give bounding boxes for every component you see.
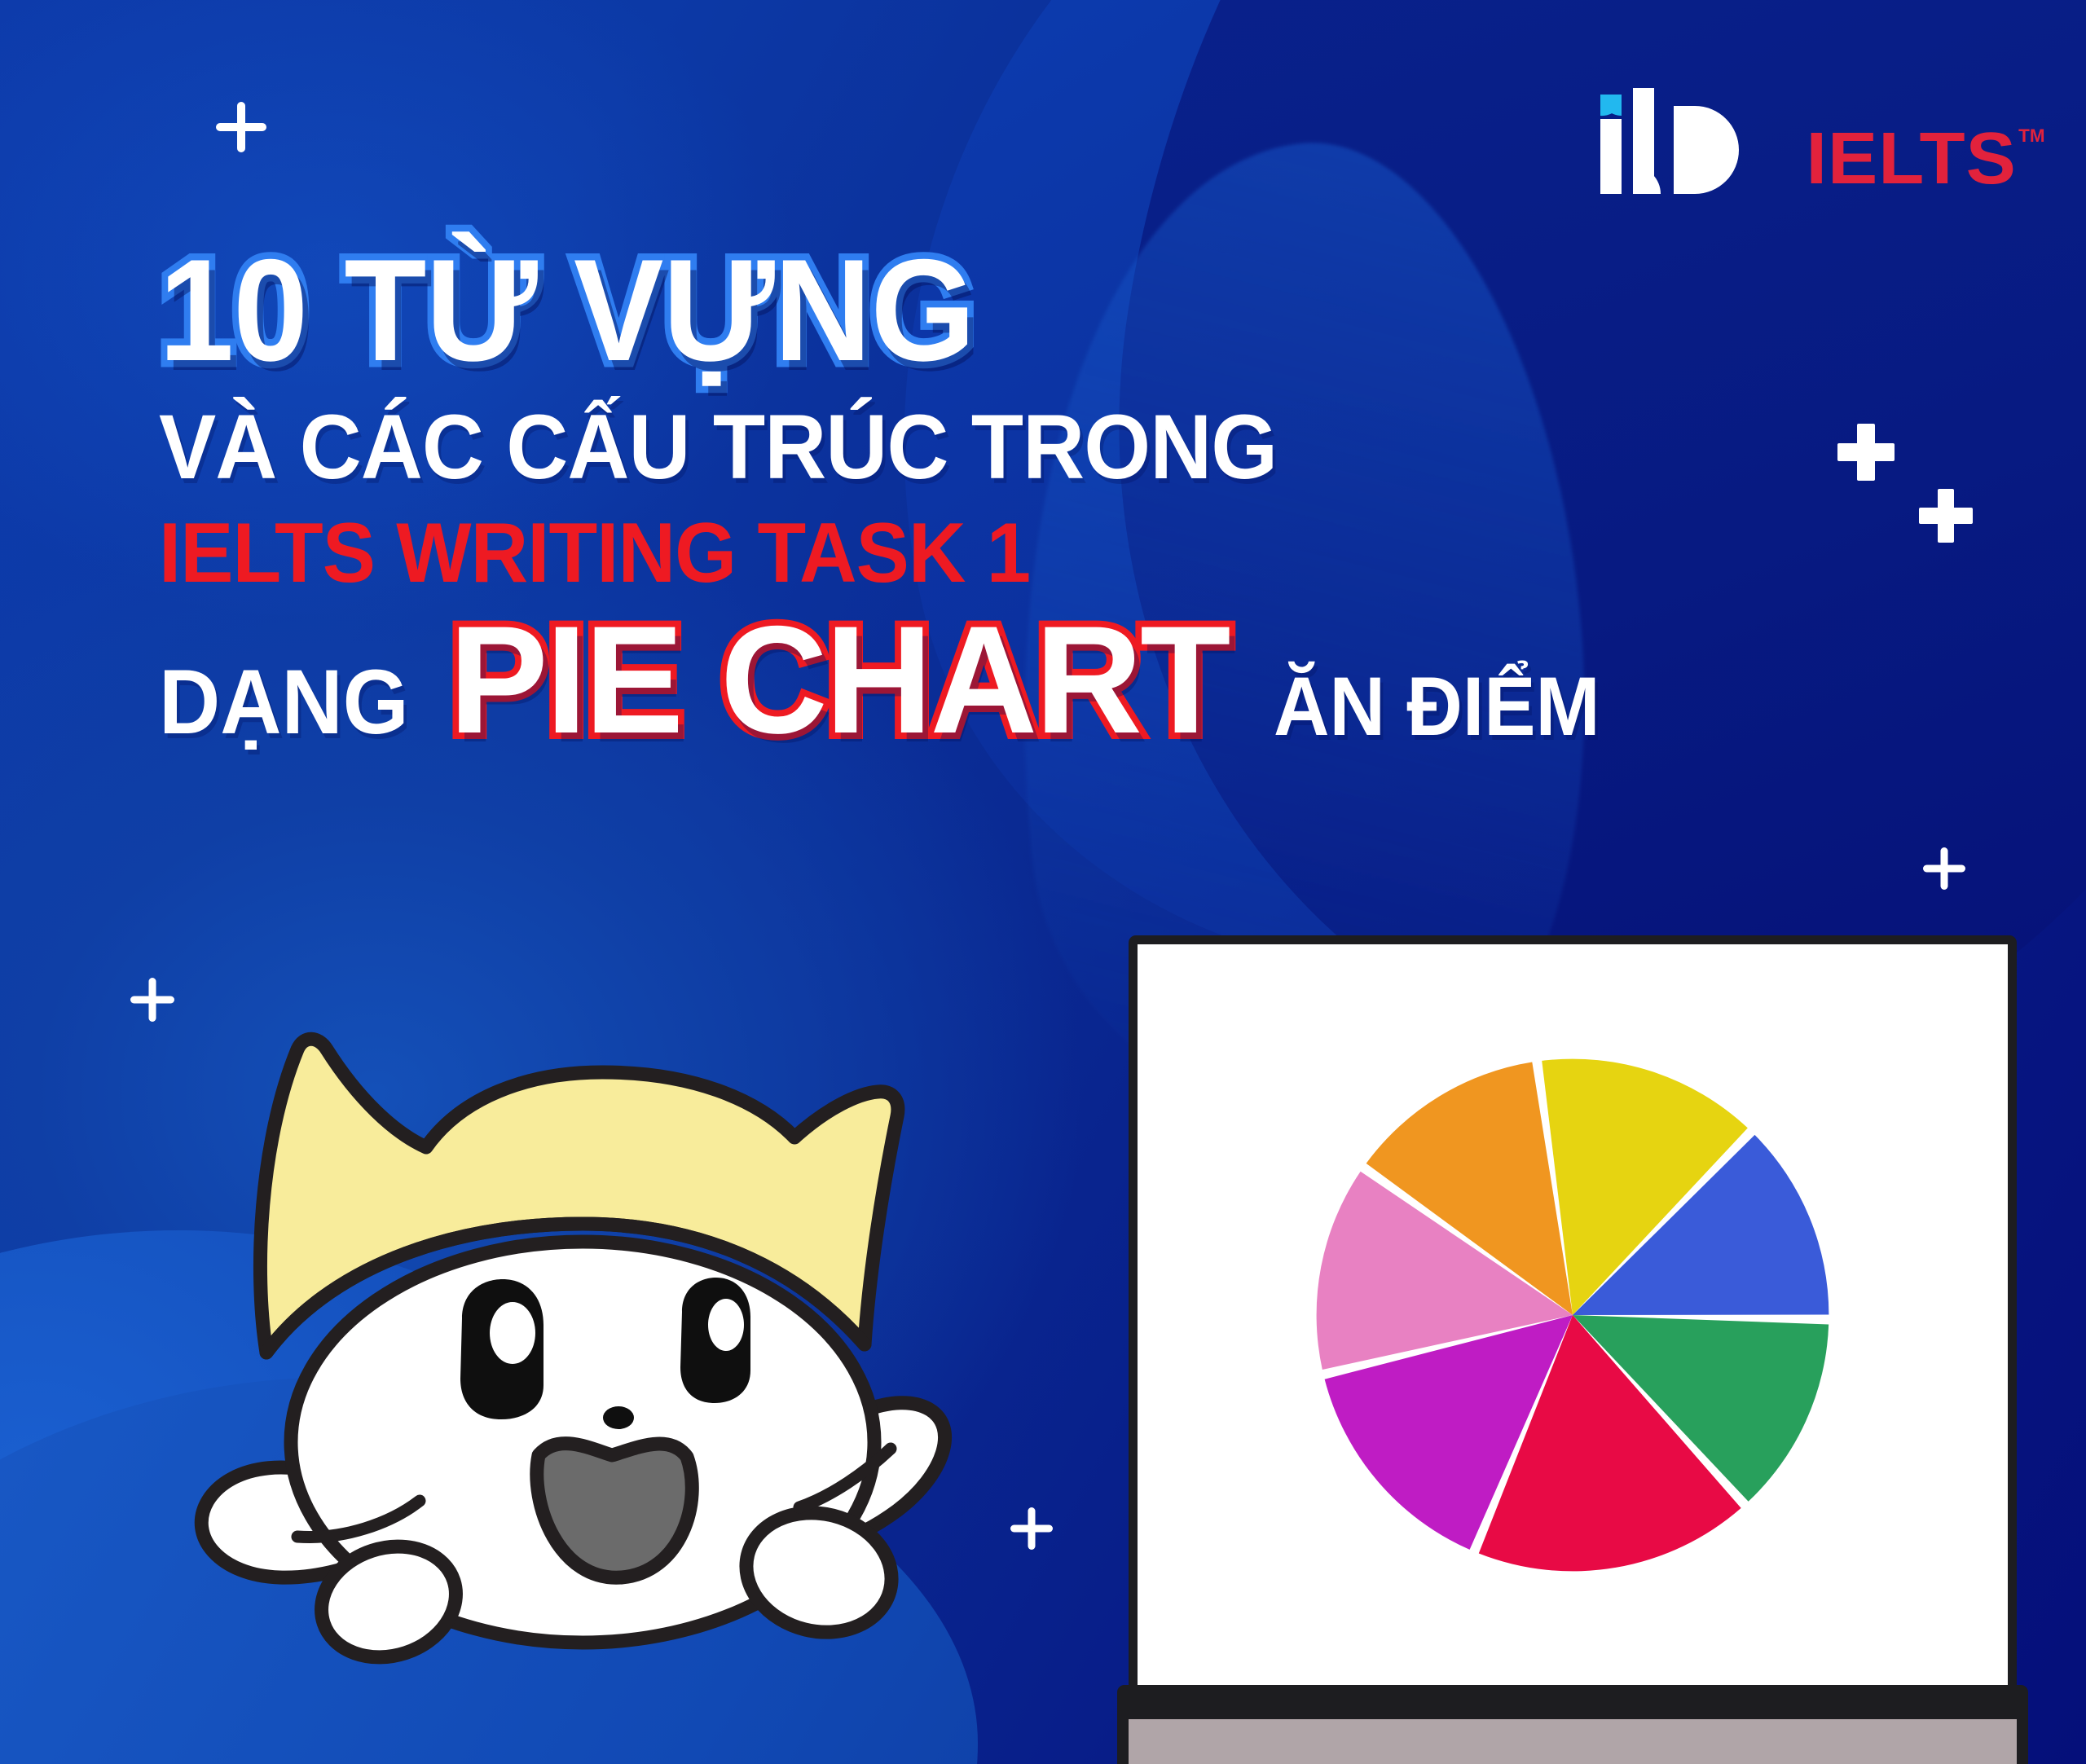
headline-line-4-prefix: DẠNG	[159, 657, 409, 748]
mascot-illustration	[175, 1002, 957, 1678]
sparkle-top-left-icon	[216, 102, 266, 152]
monitor-stand-base	[1117, 1719, 2028, 1764]
sparkle-left-mid-icon	[130, 978, 174, 1022]
monitor-frame	[1129, 935, 2017, 1685]
headline-line-2: VÀ CÁC CẤU TRÚC TRONG	[159, 403, 1614, 491]
sparkle-right-upper-icon	[1837, 424, 1895, 481]
ielts-wordmark: IELTS TM	[1806, 125, 2016, 195]
monitor-screen	[1138, 944, 2008, 1685]
monitor-with-chart	[1129, 935, 2017, 1764]
sparkle-right-lower-icon	[1919, 489, 1973, 543]
pie-chart-svg	[1306, 1049, 1840, 1582]
headline-line-1: 10 TỪ VỰNG	[159, 241, 1599, 381]
headline-line-4-highlight: PIE CHART	[449, 613, 1229, 747]
headline-block: 10 TỪ VỰNG VÀ CÁC CẤU TRÚC TRONG IELTS W…	[159, 241, 1707, 748]
headline-line-4: DẠNG PIE CHART ĂN ĐIỂM	[159, 613, 1707, 747]
pie-chart	[1306, 1049, 1840, 1582]
monitor-stand-neck	[1117, 1685, 2028, 1719]
sparkle-right-edge-icon	[1923, 847, 1965, 890]
trademark-symbol: TM	[2018, 128, 2044, 145]
brand-logo: IELTS TM	[1597, 88, 2014, 194]
sparkle-center-low-icon	[1010, 1507, 1053, 1550]
headline-line-3: IELTS WRITING TASK 1	[159, 513, 1614, 595]
headline-line-4-suffix: ĂN ĐIỂM	[1274, 665, 1600, 748]
ielts-wordmark-text: IELTS	[1806, 118, 2016, 200]
poster-canvas: IELTS TM 10 TỪ VỰNG VÀ CÁC CẤU TRÚC TRON…	[0, 0, 2086, 1764]
ilp-logomark-icon	[1597, 88, 1772, 194]
